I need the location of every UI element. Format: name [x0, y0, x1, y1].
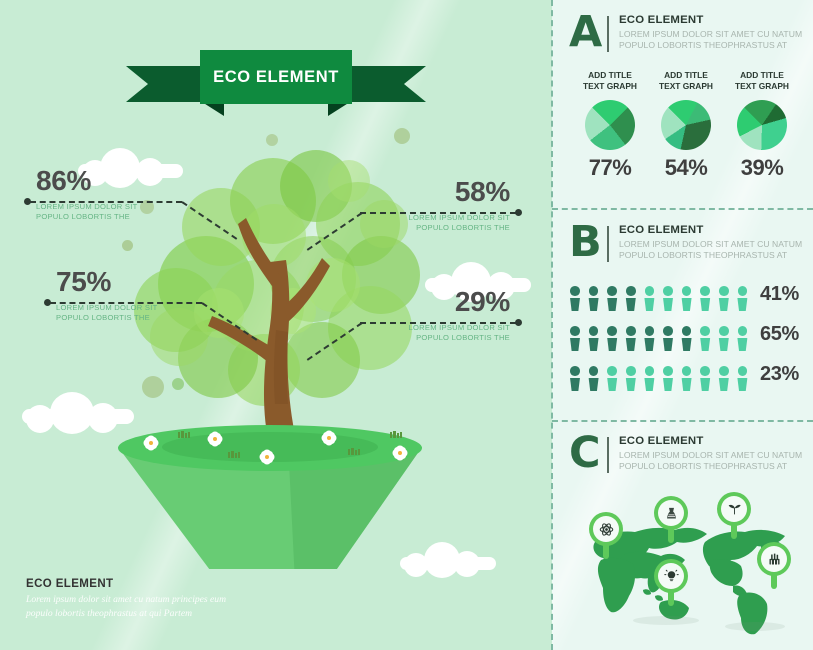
footer-block: ECO ELEMENT Lorem ipsum dolor sit amet c… — [26, 578, 326, 622]
person-head — [700, 366, 710, 376]
person-head — [645, 366, 655, 376]
person-icon — [587, 326, 601, 351]
person-icon — [568, 366, 582, 391]
section-c-letter: C — [569, 435, 605, 472]
person-body — [736, 338, 748, 352]
person-head — [589, 286, 599, 296]
section-b-subtitle-line1: LOREM IPSUM DOLOR SIT AMET CU NATUM — [619, 239, 802, 250]
person-head — [607, 366, 617, 376]
stat-value: 58% — [310, 178, 510, 206]
person-head — [738, 366, 748, 376]
person-head — [626, 286, 636, 296]
person-head — [589, 326, 599, 336]
footer-text-line1: Lorem ipsum dolor sit amet cu natum prin… — [26, 593, 326, 607]
pie-3-title: ADD TITLE TEXT GRAPH — [724, 70, 800, 91]
map-shadow — [633, 616, 699, 625]
stat-subtext-line1: LOREM IPSUM DOLOR SIT — [56, 303, 256, 313]
atom-icon — [593, 516, 619, 542]
person-head — [738, 326, 748, 336]
person-icon — [698, 286, 712, 311]
person-icon — [624, 326, 638, 351]
pie-3-title-line1: ADD TITLE — [724, 70, 800, 81]
pie-1-title: ADD TITLE TEXT GRAPH — [572, 70, 648, 91]
person-head — [682, 326, 692, 336]
nuclear-tower-icon — [658, 500, 684, 526]
person-body — [699, 378, 711, 392]
stat-rule — [50, 302, 202, 304]
person-icon — [642, 366, 656, 391]
pie-3-title-line2: TEXT GRAPH — [724, 81, 800, 92]
person-icon — [717, 366, 731, 391]
stat-callout-75: 75% LOREM IPSUM DOLOR SIT POPULO LOBORTI… — [56, 268, 256, 324]
person-icon — [587, 286, 601, 311]
section-divider-b-c — [552, 420, 813, 422]
stat-dot — [515, 209, 522, 216]
infographic-root: ECO ELEMENT — [0, 0, 813, 650]
flower — [395, 448, 405, 458]
person-head — [607, 326, 617, 336]
pie-chart-3 — [737, 100, 787, 150]
person-body — [718, 338, 730, 352]
person-body — [681, 338, 693, 352]
footer-title: ECO ELEMENT — [26, 578, 326, 590]
pictogram-row-3-value: 23% — [760, 363, 799, 386]
person-icon — [642, 286, 656, 311]
stat-dot — [515, 319, 522, 326]
person-head — [570, 326, 580, 336]
person-icon — [605, 326, 619, 351]
person-icon — [717, 286, 731, 311]
stat-subtext: LOREM IPSUM DOLOR SIT POPULO LOBORTIS TH… — [310, 213, 510, 234]
pie-2-title-line1: ADD TITLE — [648, 70, 724, 81]
pie-1-value: 77% — [572, 155, 648, 181]
map-pin-lightbulb[interactable] — [654, 559, 688, 606]
person-body — [643, 378, 655, 392]
floating-island — [110, 425, 430, 570]
person-body — [681, 298, 693, 312]
section-a-text: ECO ELEMENT LOREM IPSUM DOLOR SIT AMET C… — [619, 14, 802, 52]
section-b-subtitle-line2: POPULO LOBORTIS THEOPHRASTUS AT — [619, 250, 802, 261]
left-panel: ECO ELEMENT — [0, 0, 552, 650]
panel-divider-vertical — [551, 0, 553, 650]
section-c-subtitle-line2: POPULO LOBORTIS THEOPHRASTUS AT — [619, 461, 802, 472]
map-pin-factory[interactable] — [757, 542, 791, 589]
eco-element-ribbon: ECO ELEMENT — [126, 50, 426, 118]
person-icon — [698, 326, 712, 351]
person-body — [588, 378, 600, 392]
person-icon — [680, 286, 694, 311]
lightbulb-icon — [658, 563, 684, 589]
flower — [262, 452, 272, 462]
person-icon — [698, 366, 712, 391]
ribbon-tail-left — [126, 66, 208, 102]
person-head — [570, 286, 580, 296]
cloud-bottom-left — [22, 392, 134, 424]
person-icon — [735, 366, 749, 391]
person-head — [700, 286, 710, 296]
pictogram-row-3: 23% — [568, 366, 808, 392]
map-pin-atom[interactable] — [589, 512, 623, 559]
person-icon — [568, 326, 582, 351]
map-shadow — [725, 622, 785, 631]
person-head — [700, 326, 710, 336]
person-icon — [587, 366, 601, 391]
section-c-title: ECO ELEMENT — [619, 435, 802, 447]
grass-tuft — [348, 448, 361, 455]
map-pin-sprout[interactable] — [717, 492, 751, 539]
stat-rule — [30, 201, 182, 203]
flower — [146, 438, 156, 448]
person-icon — [680, 326, 694, 351]
person-body — [588, 298, 600, 312]
pie-chart-1 — [585, 100, 635, 150]
person-body — [606, 378, 618, 392]
flower — [210, 434, 220, 444]
stat-subtext-line1: LOREM IPSUM DOLOR SIT — [36, 202, 236, 212]
section-b-letter: B — [569, 224, 605, 261]
stat-subtext-line1: LOREM IPSUM DOLOR SIT — [310, 323, 510, 333]
grass-tuft — [390, 431, 403, 438]
person-icon — [568, 286, 582, 311]
pie-2-value: 54% — [648, 155, 724, 181]
person-head — [719, 366, 729, 376]
section-c-text: ECO ELEMENT LOREM IPSUM DOLOR SIT AMET C… — [619, 435, 802, 473]
section-divider-bar — [607, 226, 609, 262]
section-a-letter: A — [569, 14, 605, 51]
person-body — [588, 338, 600, 352]
section-b-header: B ECO ELEMENT LOREM IPSUM DOLOR SIT AMET… — [569, 224, 802, 262]
section-a-header: A ECO ELEMENT LOREM IPSUM DOLOR SIT AMET… — [569, 14, 802, 52]
stat-value: 29% — [310, 288, 510, 316]
stat-value: 86% — [36, 167, 236, 195]
person-head — [663, 286, 673, 296]
ribbon-fold-right — [328, 102, 350, 116]
person-body — [681, 378, 693, 392]
person-icon — [680, 366, 694, 391]
person-body — [625, 378, 637, 392]
pictogram-row-1-value: 41% — [760, 283, 799, 306]
person-icon — [605, 366, 619, 391]
factory-icon — [761, 546, 787, 572]
person-icon — [717, 326, 731, 351]
person-icon — [661, 366, 675, 391]
person-icon — [624, 286, 638, 311]
person-head — [626, 366, 636, 376]
person-icon — [661, 326, 675, 351]
section-divider-bar — [607, 437, 609, 473]
person-head — [719, 326, 729, 336]
person-body — [643, 298, 655, 312]
pie-2-title-line2: TEXT GRAPH — [648, 81, 724, 92]
person-body — [643, 338, 655, 352]
pie-chart-2 — [661, 100, 711, 150]
footer-text: Lorem ipsum dolor sit amet cu natum prin… — [26, 593, 326, 622]
person-body — [699, 338, 711, 352]
stat-callout-29: 29% LOREM IPSUM DOLOR SIT POPULO LOBORTI… — [310, 288, 510, 344]
grass-tuft — [228, 451, 241, 458]
person-icon — [735, 286, 749, 311]
person-head — [663, 366, 673, 376]
section-a-subtitle-line2: POPULO LOBORTIS THEOPHRASTUS AT — [619, 40, 802, 51]
section-a-subtitle: LOREM IPSUM DOLOR SIT AMET CU NATUM POPU… — [619, 29, 802, 52]
stat-value: 75% — [56, 268, 256, 296]
person-head — [738, 286, 748, 296]
person-icon — [642, 326, 656, 351]
person-body — [569, 298, 581, 312]
person-head — [719, 286, 729, 296]
banner-title: ECO ELEMENT — [213, 68, 339, 87]
section-a-subtitle-line1: LOREM IPSUM DOLOR SIT AMET CU NATUM — [619, 29, 802, 40]
person-icon — [605, 286, 619, 311]
person-head — [682, 366, 692, 376]
pictogram-row-2: 65% — [568, 326, 808, 352]
pictogram-row-2-value: 65% — [760, 323, 799, 346]
pie-1-title-line1: ADD TITLE — [572, 70, 648, 81]
person-body — [699, 298, 711, 312]
person-head — [645, 286, 655, 296]
section-divider-a-b — [552, 208, 813, 210]
section-b-title: ECO ELEMENT — [619, 224, 802, 236]
footer-text-line2: populo lobortis theophrastus at qui Part… — [26, 607, 326, 621]
person-body — [625, 298, 637, 312]
section-c-header: C ECO ELEMENT LOREM IPSUM DOLOR SIT AMET… — [569, 435, 802, 473]
person-body — [569, 338, 581, 352]
person-body — [662, 338, 674, 352]
person-head — [626, 326, 636, 336]
stat-rule — [360, 322, 516, 324]
person-body — [662, 378, 674, 392]
stat-callout-86: 86% LOREM IPSUM DOLOR SIT POPULO LOBORTI… — [36, 167, 236, 223]
person-body — [569, 378, 581, 392]
flower — [324, 433, 334, 443]
ribbon-center: ECO ELEMENT — [200, 50, 352, 104]
person-body — [606, 338, 618, 352]
stat-subtext-line1: LOREM IPSUM DOLOR SIT — [310, 213, 510, 223]
person-body — [736, 298, 748, 312]
section-a-title: ECO ELEMENT — [619, 14, 802, 26]
pictogram-row-1: 41% — [568, 286, 808, 312]
section-b-text: ECO ELEMENT LOREM IPSUM DOLOR SIT AMET C… — [619, 224, 802, 262]
world-map — [565, 498, 805, 638]
sprout-icon — [721, 496, 747, 522]
pie-2-title: ADD TITLE TEXT GRAPH — [648, 70, 724, 91]
section-c-subtitle-line1: LOREM IPSUM DOLOR SIT AMET CU NATUM — [619, 450, 802, 461]
stat-callout-58: 58% LOREM IPSUM DOLOR SIT POPULO LOBORTI… — [310, 178, 510, 234]
person-head — [589, 366, 599, 376]
stat-subtext: LOREM IPSUM DOLOR SIT POPULO LOBORTIS TH… — [310, 323, 510, 344]
person-body — [606, 298, 618, 312]
person-body — [625, 338, 637, 352]
ribbon-fold-left — [202, 102, 224, 116]
pie-1-title-line2: TEXT GRAPH — [572, 81, 648, 92]
section-b-subtitle: LOREM IPSUM DOLOR SIT AMET CU NATUM POPU… — [619, 239, 802, 262]
person-body — [718, 378, 730, 392]
person-head — [682, 286, 692, 296]
person-icon — [624, 366, 638, 391]
person-head — [663, 326, 673, 336]
section-divider-bar — [607, 16, 609, 52]
person-head — [645, 326, 655, 336]
map-pin-nuclear-tower[interactable] — [654, 496, 688, 543]
section-c-subtitle: LOREM IPSUM DOLOR SIT AMET CU NATUM POPU… — [619, 450, 802, 473]
person-body — [718, 298, 730, 312]
ribbon-tail-right — [344, 66, 426, 102]
person-icon — [735, 326, 749, 351]
grass-tuft — [178, 431, 191, 438]
stat-rule — [360, 212, 516, 214]
person-body — [736, 378, 748, 392]
pie-3-value: 39% — [724, 155, 800, 181]
person-body — [662, 298, 674, 312]
person-head — [607, 286, 617, 296]
person-head — [570, 366, 580, 376]
person-icon — [661, 286, 675, 311]
